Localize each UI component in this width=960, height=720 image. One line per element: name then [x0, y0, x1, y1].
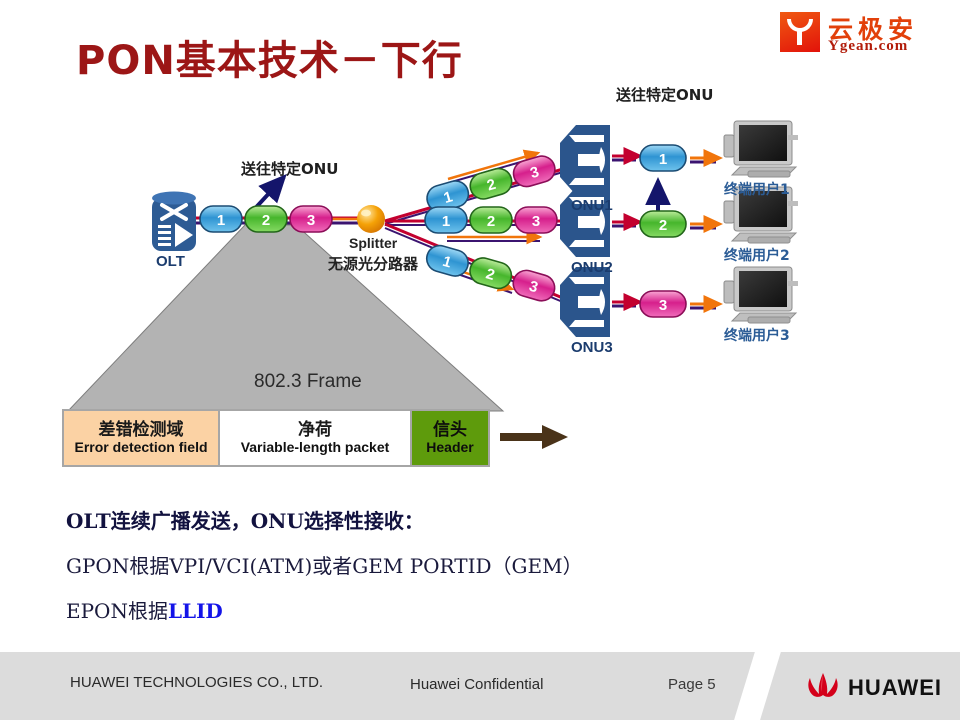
svg-text:1: 1 [659, 151, 667, 168]
frame-field-header: 信头 Header [412, 409, 490, 467]
desktop-computer-icon-1 [724, 121, 798, 177]
frame-field-payload: 净荷 Variable-length packet [220, 409, 412, 467]
huawei-logo: HUAWEI [800, 670, 950, 704]
svg-text:2: 2 [659, 217, 667, 234]
slide-canvas: PON基本技术－下行 云极安 Ygean.com [0, 0, 960, 720]
body-line-3-prefix: EPON根据 [66, 599, 168, 623]
frame-field-error-cn: 差错检测域 [99, 421, 184, 440]
onu1-label: ONU1 [571, 197, 613, 214]
olt-label: OLT [156, 253, 185, 270]
annotation-left-label: 送往特定ONU [241, 158, 339, 179]
splitter-node-icon [357, 205, 385, 233]
svg-text:2: 2 [262, 212, 270, 229]
body-text-block: OLT连续广播发送，ONU选择性接收： GPON根据VPI/VCI(ATM)或者… [66, 505, 766, 624]
footer-company: HUAWEI TECHNOLOGIES CO., LTD. [70, 674, 323, 691]
user3-label: 终端用户3 [724, 325, 790, 345]
splitter-label-en: Splitter [349, 235, 397, 251]
footer-divider [729, 652, 784, 720]
svg-text:3: 3 [307, 212, 315, 229]
slide-footer: HUAWEI TECHNOLOGIES CO., LTD. Huawei Con… [0, 652, 960, 720]
onu-device-icon-1 [560, 125, 610, 195]
annotation-right-label: 送往特定ONU [616, 84, 714, 105]
packet-train-onu3: 1 2 3 [424, 243, 558, 304]
packet-train-olt: 1 2 3 [200, 206, 332, 232]
olt-device-icon [152, 192, 196, 252]
packet-train-onu2: 1 2 3 [425, 207, 557, 233]
frame-structure: 差错检测域 Error detection field 净荷 Variable-… [62, 409, 490, 467]
user1-label: 终端用户1 [724, 179, 790, 199]
desktop-computer-icon-3 [724, 267, 798, 323]
packet-train-onu1: 1 2 3 [424, 153, 558, 214]
user2-label: 终端用户2 [724, 245, 790, 265]
footer-page-number: Page 5 [668, 676, 716, 693]
svg-text:2: 2 [487, 213, 495, 230]
splitter-label-cn: 无源光分路器 [328, 253, 418, 274]
huawei-flower-icon [800, 670, 846, 700]
svg-text:3: 3 [659, 297, 667, 314]
body-line-3: EPON根据LLID [66, 595, 766, 624]
frame-field-payload-cn: 净荷 [298, 421, 332, 440]
footer-confidential: Huawei Confidential [410, 676, 543, 693]
frame-field-error-detection: 差错检测域 Error detection field [62, 409, 220, 467]
svg-text:3: 3 [532, 213, 540, 230]
body-line-2: GPON根据VPI/VCI(ATM)或者GEM PORTID（GEM） [66, 550, 766, 579]
onu2-label: ONU2 [571, 259, 613, 276]
onu3-label: ONU3 [571, 339, 613, 356]
frame-field-error-en: Error detection field [74, 440, 207, 456]
frame-direction-arrow-icon [498, 422, 574, 454]
ygean-y-mark-icon [780, 12, 820, 52]
frame-field-header-cn: 信头 [433, 421, 467, 440]
body-line-1: OLT连续广播发送，ONU选择性接收： [66, 505, 766, 534]
body-line-3-highlight: LLID [168, 599, 223, 623]
frame-field-header-en: Header [426, 440, 473, 456]
huawei-logo-text: HUAWEI [848, 675, 942, 701]
svg-text:1: 1 [442, 213, 450, 230]
svg-text:1: 1 [217, 212, 225, 229]
frame-field-payload-en: Variable-length packet [241, 440, 390, 456]
brand-logo: 云极安 Ygean.com [780, 10, 946, 56]
frame-title-label: 802.3 Frame [254, 371, 362, 393]
brand-logo-en: Ygean.com [828, 38, 908, 55]
